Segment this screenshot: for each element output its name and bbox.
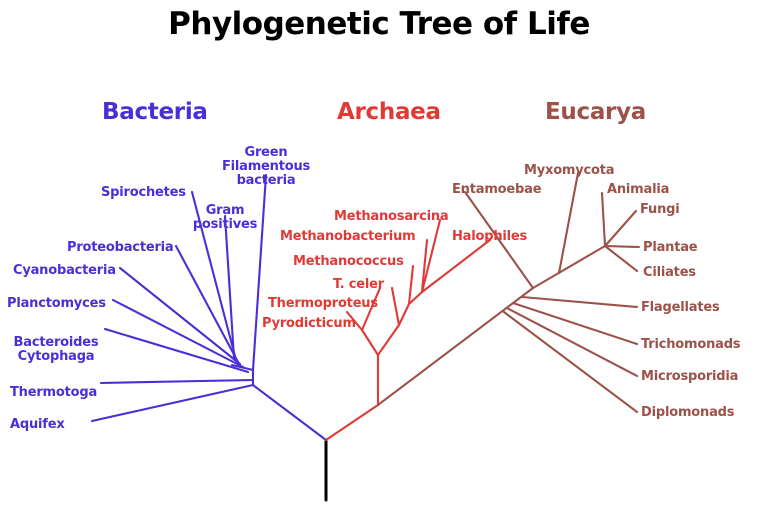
branch-thermotoga [101, 380, 253, 383]
taxon-label-plantae: Plantae [643, 241, 702, 255]
branch-methanococcus [409, 266, 413, 304]
taxon-label-halophiles: Halophiles [452, 230, 531, 244]
taxon-label-planctomyces: Planctomyces [7, 297, 110, 311]
taxon-label-methanobacterium: Methanobacterium [280, 230, 419, 244]
branch-aquifex [92, 385, 253, 421]
branch-animalia [602, 193, 605, 246]
archaea-left-node [362, 330, 378, 355]
bacteria-trunk [253, 385, 326, 440]
branch-trichomonads [513, 303, 637, 344]
taxon-label-aquifex: Aquifex [10, 418, 68, 432]
branch-cyanobacteria [120, 268, 240, 364]
branch-microsporidia [507, 308, 637, 376]
branch-bacteroides-cytophaga [105, 329, 248, 372]
taxon-label-green-filamentous-bacteria: GreenFilamentousbacteria [218, 146, 314, 188]
eucarya-trunk [378, 288, 533, 405]
taxon-label-ciliates: Ciliates [643, 266, 698, 280]
taxon-label-gram-positives: Grampositives [190, 204, 260, 232]
taxon-label-entamoebae: Entamoebae [452, 183, 546, 197]
branch-flagellates [522, 297, 637, 307]
taxon-label-animalia: Animalia [607, 183, 674, 197]
taxon-label-pyrodicticum: Pyrodicticum [262, 317, 363, 331]
taxon-label-bacteroides-cytophaga: BacteroidesCytophaga [11, 336, 101, 364]
taxon-label-thermoproteus: Thermoproteus [268, 297, 380, 311]
branch-myxomycota [559, 173, 578, 273]
taxon-label-diplomonads: Diplomonads [641, 406, 740, 420]
taxon-label-cyanobacteria: Cyanobacteria [13, 264, 116, 278]
phylogenetic-tree-figure: Phylogenetic Tree of Life BacteriaArchae… [0, 0, 758, 512]
archaea-upper-node [399, 304, 409, 325]
branch-t-celer [392, 288, 399, 325]
taxon-label-thermotoga: Thermotoga [10, 386, 97, 400]
taxon-label-myxomycota: Myxomycota [524, 164, 620, 178]
branch-ciliates [605, 246, 637, 271]
branch-fungi [605, 211, 636, 246]
archaea-trunk [326, 405, 378, 440]
taxon-label-trichomonads: Trichomonads [641, 338, 746, 352]
domain-heading-bacteria: Bacteria [102, 99, 208, 125]
branch-diplomonads [504, 312, 637, 412]
archaea-right-node [378, 325, 399, 355]
taxon-label-methanococcus: Methanococcus [293, 255, 411, 269]
taxon-label-flagellates: Flagellates [641, 301, 723, 315]
taxon-label-proteobacteria: Proteobacteria [67, 241, 172, 255]
taxon-label-fungi: Fungi [640, 203, 684, 217]
taxon-label-microsporidia: Microsporidia [641, 370, 745, 384]
domain-heading-eucarya: Eucarya [545, 99, 646, 125]
eucarya-crown-stem [533, 246, 605, 288]
taxon-label-methanosarcina: Methanosarcina [334, 210, 457, 224]
taxon-label-spirochetes: Spirochetes [101, 186, 187, 200]
taxon-label-t-celer: T. celer [333, 278, 390, 292]
branch-plantae [605, 246, 639, 247]
domain-heading-archaea: Archaea [337, 99, 441, 125]
